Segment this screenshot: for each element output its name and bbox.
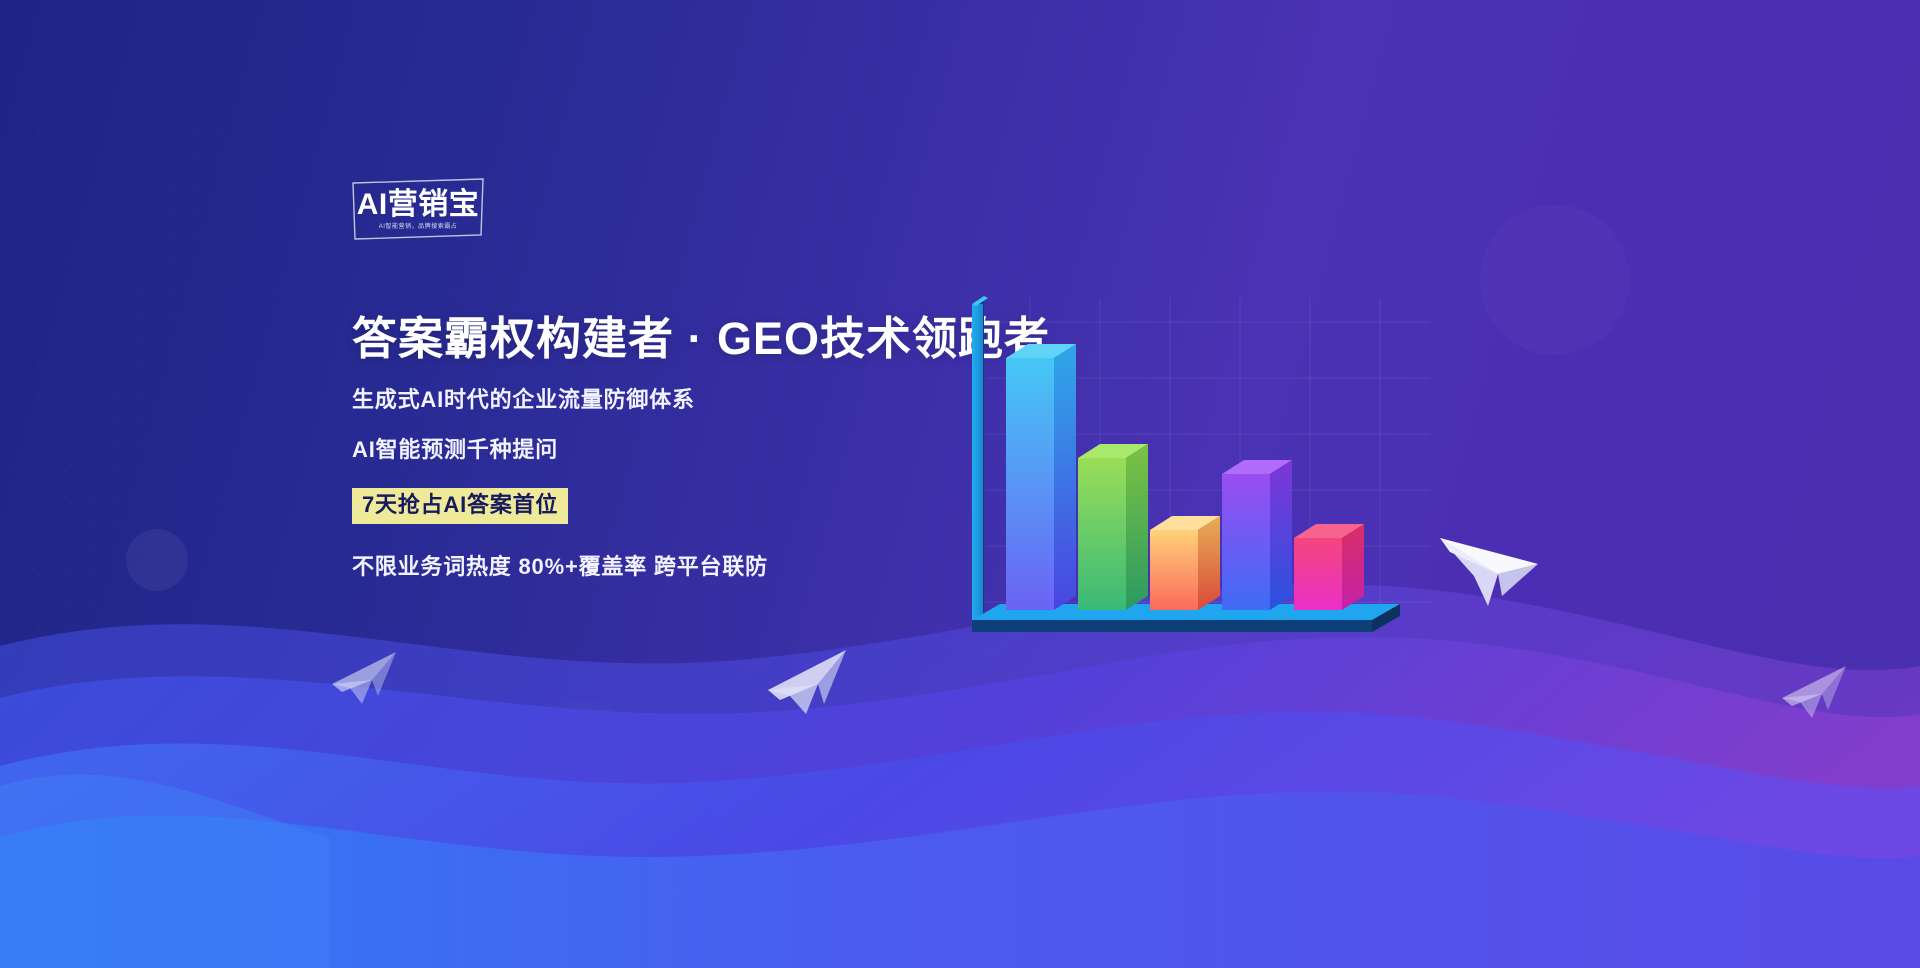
chart-y-axis: [972, 296, 988, 620]
hero-highlight-row: 7天抢占AI答案首位: [352, 488, 1050, 524]
chart-bar: [1006, 344, 1076, 610]
hero-subtitle-3: 不限业务词热度 80%+覆盖率 跨平台联防: [352, 554, 1050, 580]
paper-plane-icon: [766, 646, 852, 718]
page-title: 答案霸权构建者 · GEO技术领跑者: [352, 312, 1050, 365]
hero-copy: 答案霸权构建者 · GEO技术领跑者 生成式AI时代的企业流量防御体系 AI智能…: [352, 312, 1050, 580]
brand-logo-text: AI营销宝: [357, 190, 480, 220]
bar-chart-illustration: [960, 286, 1460, 686]
hero-banner: AI营销宝 AI智能营销，品牌搜索霸占 答案霸权构建者 · GEO技术领跑者 生…: [0, 0, 1920, 968]
chart-bar: [1294, 524, 1364, 610]
chart-bar: [1078, 444, 1148, 610]
circle-decoration: [1480, 205, 1630, 355]
hero-subtitle-1: 生成式AI时代的企业流量防御体系: [352, 387, 1050, 413]
paper-plane-icon: [1780, 662, 1852, 722]
hero-highlight-badge: 7天抢占AI答案首位: [352, 488, 568, 524]
hero-subtitle-2: AI智能预测千种提问: [352, 437, 1050, 463]
chart-bar: [1222, 460, 1292, 610]
brand-logo[interactable]: AI营销宝 AI智能营销，品牌搜索霸占: [352, 178, 484, 240]
paper-plane-icon: [330, 648, 402, 708]
brand-logo-tagline: AI智能营销，品牌搜索霸占: [379, 222, 458, 231]
chart-bar: [1150, 516, 1220, 610]
